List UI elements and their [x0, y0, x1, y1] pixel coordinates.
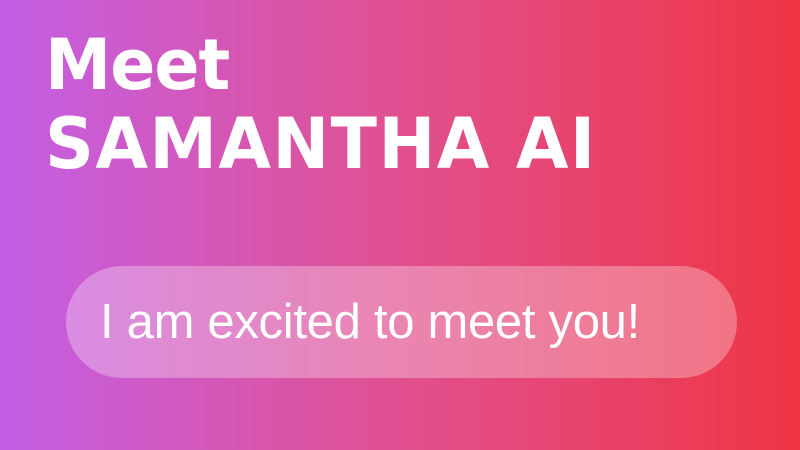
headline-line-primary: Meet: [45, 26, 729, 104]
headline-block: Meet SAMANTHA AI: [45, 26, 765, 184]
speech-bubble-pill: I am excited to meet you!: [66, 266, 737, 378]
hero-banner: Meet SAMANTHA AI I am excited to meet yo…: [0, 0, 800, 450]
speech-bubble-message: I am excited to meet you!: [100, 298, 640, 347]
headline-line-secondary: SAMANTHA AI: [45, 104, 743, 184]
